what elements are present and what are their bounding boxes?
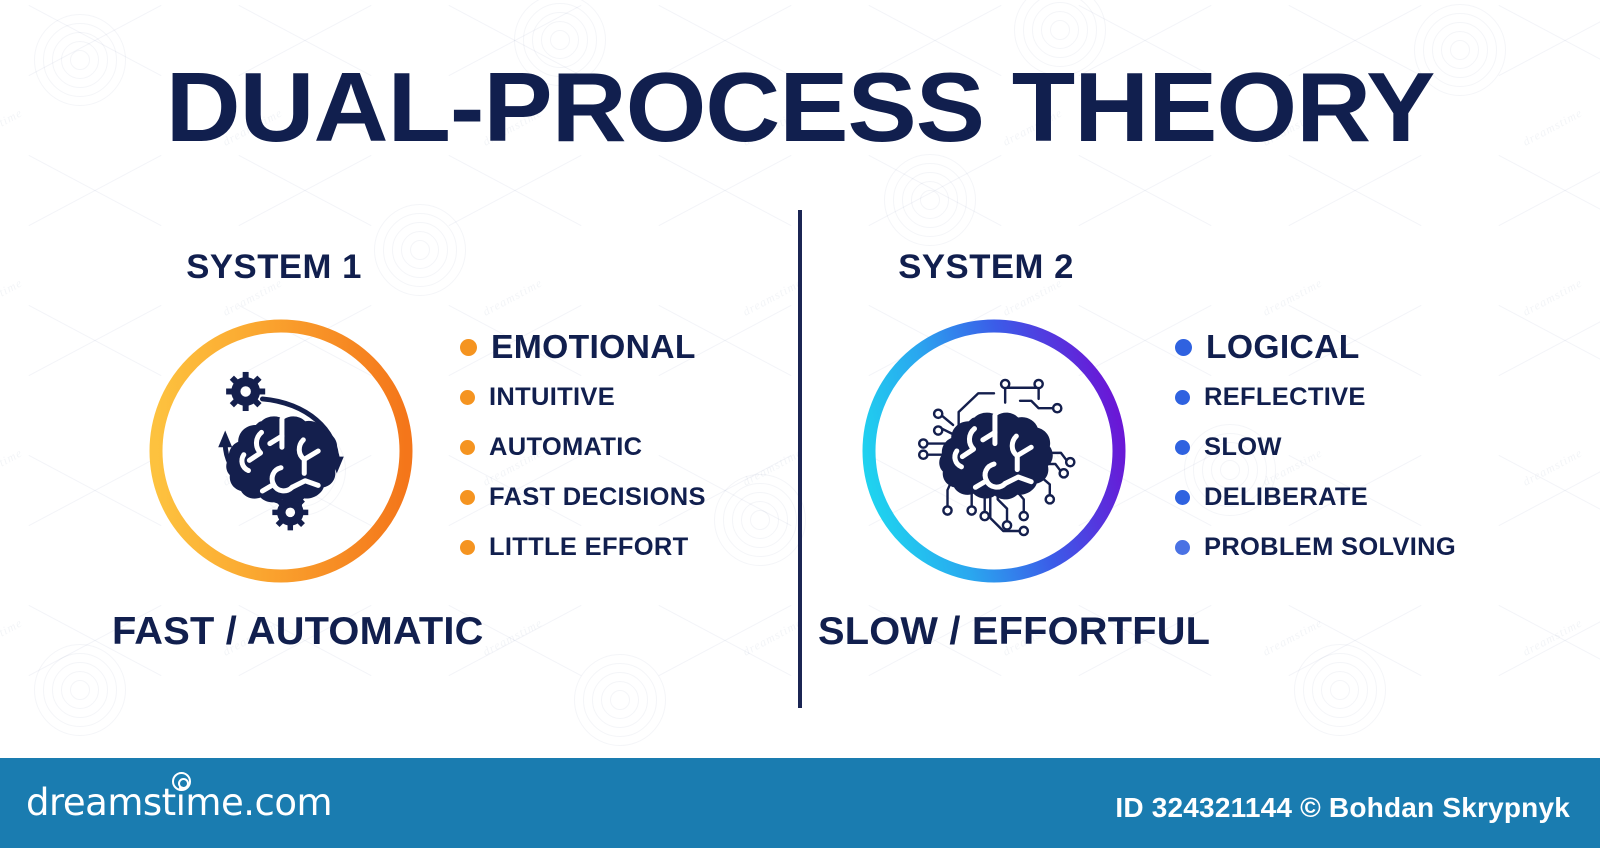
list-item: INTUITIVE [460, 372, 702, 422]
bullet-dot [1175, 540, 1190, 555]
system-1-bullet-list: EMOTIONAL INTUITIVE AUTOMATIC FAST DECIS… [460, 322, 702, 572]
bullet-label: PROBLEM SOLVING [1204, 533, 1456, 562]
list-item: PROBLEM SOLVING [1175, 522, 1451, 572]
list-item: DELIBERATE [1175, 472, 1451, 522]
bullet-dot [460, 440, 475, 455]
dreamstime-footer-bar: dreamstime.com ID 324321144 © Bohdan Skr… [0, 758, 1600, 848]
list-item: LITTLE EFFORT [460, 522, 702, 572]
bullet-label: REFLECTIVE [1204, 383, 1366, 412]
system-2-panel: SYSTEM 2 [810, 170, 1570, 690]
bullet-dot [1175, 339, 1192, 356]
bullet-label: LOGICAL [1206, 328, 1360, 366]
system-2-heading: SYSTEM 2 [898, 248, 1074, 287]
bullet-dot [460, 339, 477, 356]
brain-cycle-gears-icon [188, 358, 374, 544]
dreamstime-logo: dreamstime.com [26, 784, 332, 821]
system-2-footer-label: SLOW / EFFORTFUL [818, 610, 1210, 654]
list-item: AUTOMATIC [460, 422, 702, 472]
list-item: REFLECTIVE [1175, 372, 1451, 422]
bullet-label: LITTLE EFFORT [489, 533, 688, 562]
system-1-heading: SYSTEM 1 [186, 248, 362, 287]
bullet-dot [1175, 390, 1190, 405]
bullet-label: AUTOMATIC [489, 433, 642, 462]
image-credit: ID 324321144 © Bohdan Skrypnyk [1115, 792, 1570, 824]
infographic-canvas: dreamstimedreamstimedreamstimedreamstime… [0, 0, 1600, 848]
bullet-label: DELIBERATE [1204, 483, 1368, 512]
page-title: DUAL-PROCESS THEORY [0, 58, 1600, 156]
list-item: EMOTIONAL [460, 322, 702, 372]
section-divider [798, 210, 802, 708]
system-1-footer-label: FAST / AUTOMATIC [112, 610, 484, 654]
bullet-label: FAST DECISIONS [489, 483, 706, 512]
system-1-ring [145, 315, 417, 587]
bullet-dot [1175, 490, 1190, 505]
bullet-dot [1175, 440, 1190, 455]
bullet-label: SLOW [1204, 433, 1282, 462]
bullet-dot [460, 390, 475, 405]
bullet-dot [460, 490, 475, 505]
list-item: SLOW [1175, 422, 1451, 472]
system-1-panel: SYSTEM 1 [60, 170, 780, 690]
spiral-icon [172, 772, 191, 791]
list-item: LOGICAL [1175, 322, 1451, 372]
bullet-label: EMOTIONAL [491, 328, 696, 366]
bullet-label: INTUITIVE [489, 383, 615, 412]
list-item: FAST DECISIONS [460, 472, 702, 522]
circuit-brain-icon [901, 358, 1087, 544]
system-2-ring [858, 315, 1130, 587]
system-2-bullet-list: LOGICAL REFLECTIVE SLOW DELIBERATE PROBL… [1175, 322, 1451, 572]
bullet-dot [460, 540, 475, 555]
